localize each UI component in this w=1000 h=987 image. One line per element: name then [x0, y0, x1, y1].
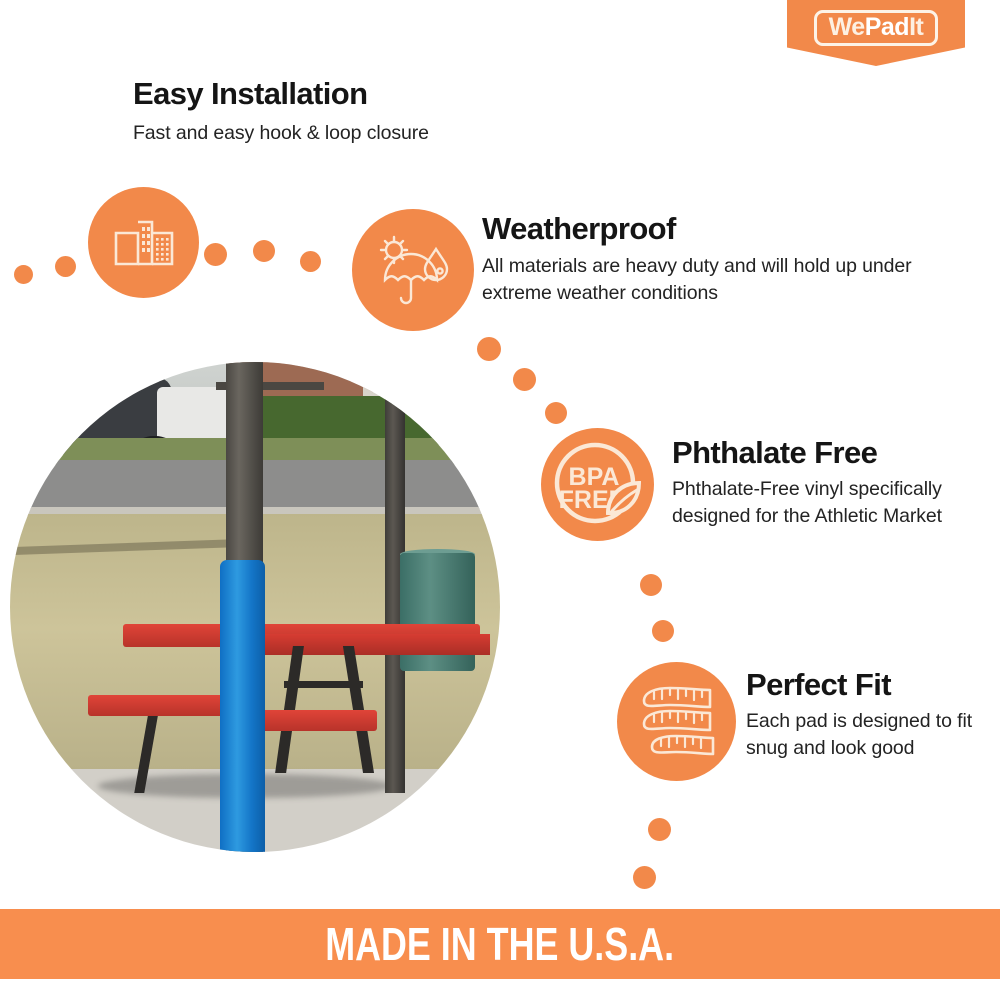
made-in-usa-banner: MADE IN THE U.S.A.: [0, 909, 1000, 979]
logo-text-we: We: [829, 13, 865, 41]
path-dot: [652, 620, 674, 642]
feature-block-easy-installation: Easy Installation Fast and easy hook & l…: [133, 78, 429, 147]
logo-text-pad: Pad: [865, 13, 909, 41]
feature-title: Easy Installation: [133, 78, 429, 111]
path-dot: [633, 866, 656, 889]
path-dot: [477, 337, 501, 361]
feature-description: Fast and easy hook & loop closure: [133, 120, 429, 148]
photo-blue-pole-pad: [220, 560, 265, 852]
product-feature-infographic: WePadIt Easy Installation Fast and easy …: [0, 0, 1000, 987]
path-dot: [545, 402, 567, 424]
photo-suv: [25, 377, 172, 446]
product-photo: [10, 362, 500, 852]
path-dot: [204, 243, 227, 266]
path-dot: [300, 251, 321, 272]
wepadit-logo-badge[interactable]: WePadIt: [787, 0, 965, 66]
made-in-usa-text: MADE IN THE U.S.A.: [326, 917, 675, 971]
feature-block-phthalate-free: Phthalate Free Phthalate-Free vinyl spec…: [672, 437, 972, 531]
photo-bench-right: [260, 710, 378, 732]
logo-text-it: It: [909, 13, 923, 41]
feature-description: Phthalate-Free vinyl specifically design…: [672, 476, 972, 531]
feature-description: All materials are heavy duty and will ho…: [482, 253, 912, 308]
path-dot: [640, 574, 662, 596]
bpa-free-leaf-icon: BPA FREE: [548, 435, 648, 535]
path-dot: [55, 256, 76, 277]
path-dot: [648, 818, 671, 841]
feature-description: Each pad is designed to fit snug and loo…: [746, 708, 986, 763]
feature-icon-circle-weatherproof[interactable]: [352, 209, 474, 331]
photo-table-brace: [284, 681, 362, 688]
feature-block-perfect-fit: Perfect Fit Each pad is designed to fit …: [746, 669, 986, 763]
path-dot: [14, 265, 33, 284]
measuring-tape-icon: [634, 679, 720, 765]
logo-frame: WePadIt: [814, 10, 939, 46]
path-dot: [513, 368, 536, 391]
feature-title: Phthalate Free: [672, 437, 972, 470]
sun-umbrella-raindrop-icon: [373, 235, 453, 305]
feature-icon-circle-perfect-fit[interactable]: [617, 662, 736, 781]
path-dot: [253, 240, 275, 262]
feature-icon-circle-easy-installation[interactable]: [88, 187, 199, 298]
feature-block-weatherproof: Weatherproof All materials are heavy dut…: [482, 213, 912, 308]
feature-title: Weatherproof: [482, 213, 912, 246]
photo-bench-left: [88, 695, 235, 716]
feature-title: Perfect Fit: [746, 669, 986, 702]
photo-scene: [10, 362, 500, 852]
feature-icon-circle-phthalate-free[interactable]: BPA FREE: [541, 428, 654, 541]
hook-and-loop-icon: [113, 217, 175, 269]
